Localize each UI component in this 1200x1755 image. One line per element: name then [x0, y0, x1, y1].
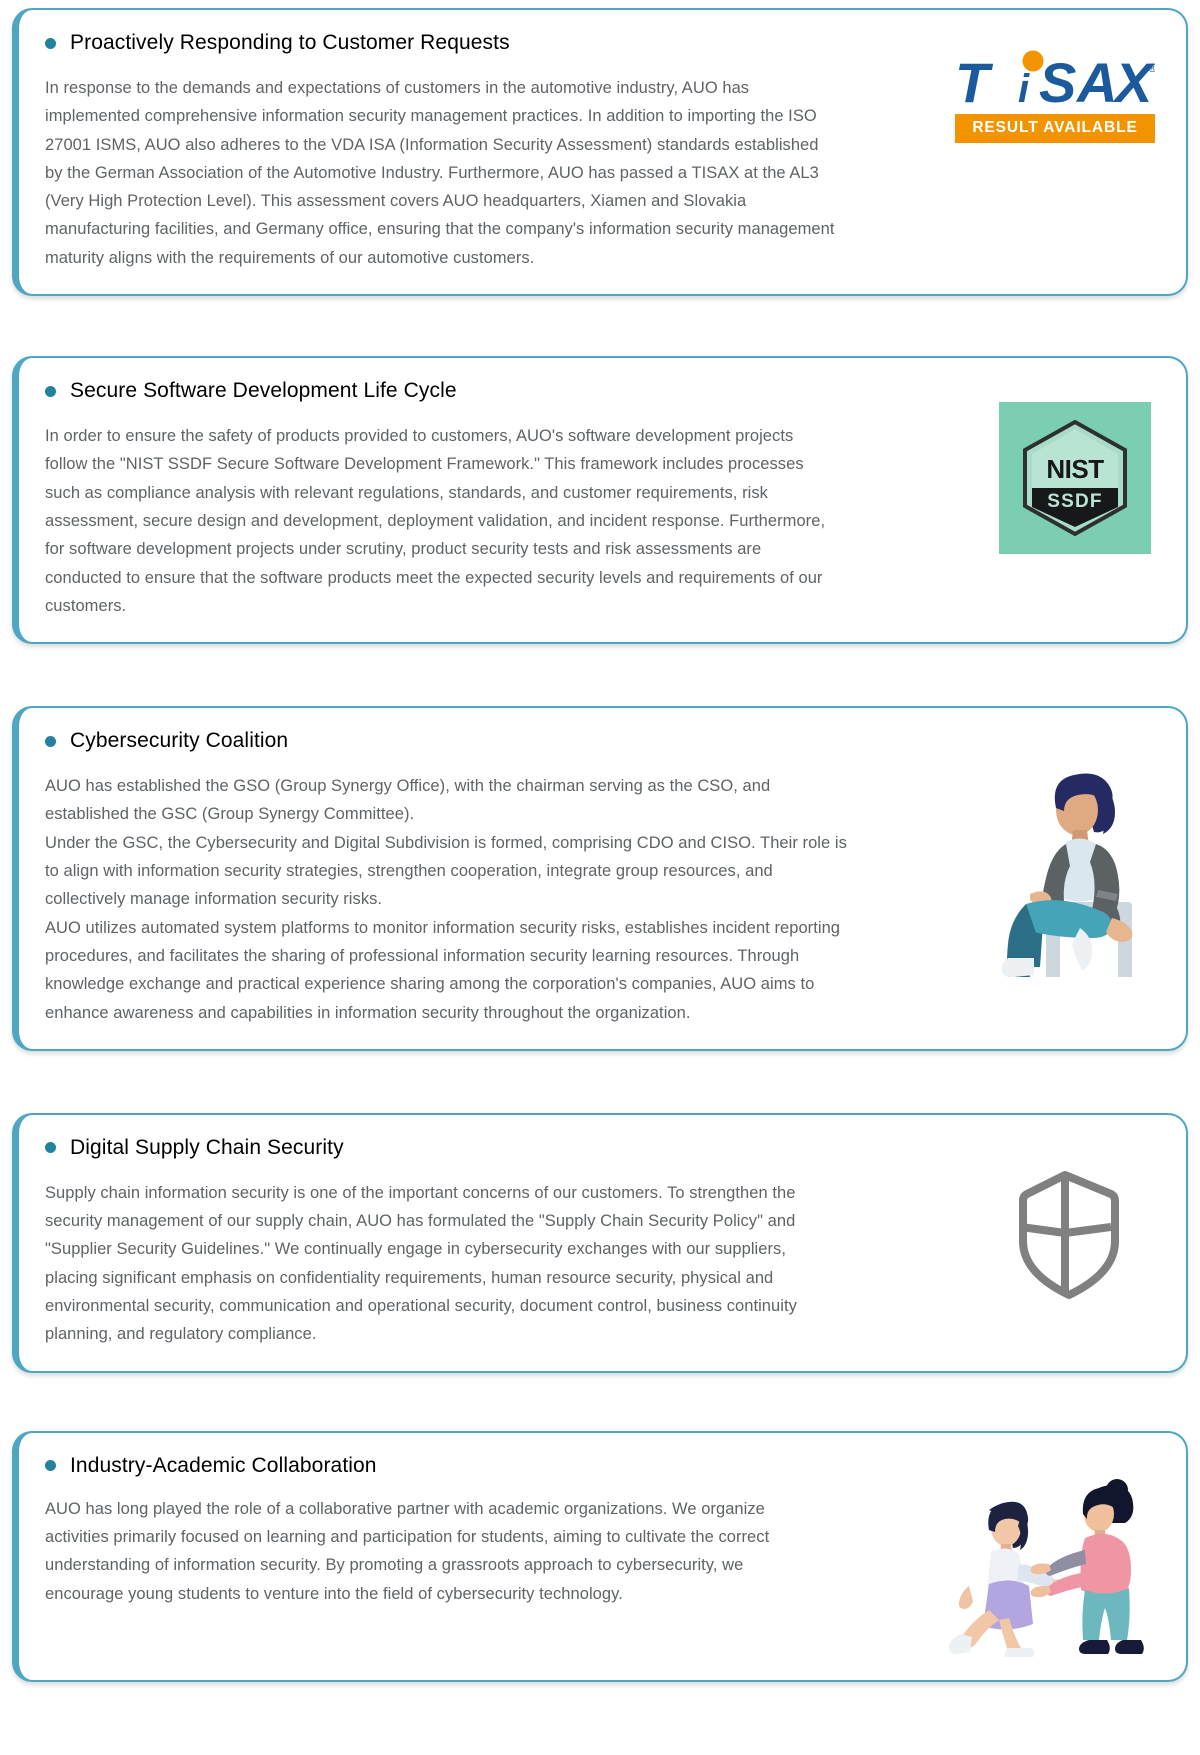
- section-heading: Cybersecurity Coalition: [70, 726, 288, 756]
- tisax-banner: RESULT AVAILABLE: [955, 114, 1155, 143]
- section-body: In response to the demands and expectati…: [45, 74, 835, 272]
- card-visual-nist: NIST SSDF: [990, 402, 1160, 554]
- spacer: [12, 296, 1188, 356]
- section-heading: Proactively Responding to Customer Reque…: [70, 28, 510, 58]
- bullet-dot-icon: [45, 38, 56, 49]
- tisax-wordmark-icon: T i S A X ®: [955, 50, 1155, 112]
- svg-text:®: ®: [1148, 61, 1155, 75]
- svg-text:NIST: NIST: [1046, 454, 1104, 484]
- card-industry-academic-collaboration: Industry-Academic Collaboration AUO has …: [12, 1431, 1188, 1682]
- card-visual-coalition: [965, 762, 1160, 977]
- card-text-block: Secure Software Development Life Cycle I…: [45, 376, 990, 620]
- heading-row: Industry-Academic Collaboration: [45, 1451, 920, 1481]
- heading-row: Secure Software Development Life Cycle: [45, 376, 980, 406]
- heading-row: Proactively Responding to Customer Reque…: [45, 28, 940, 58]
- bullet-dot-icon: [45, 1460, 56, 1471]
- bullet-dot-icon: [45, 1142, 56, 1153]
- seated-person-illustration-icon: [970, 762, 1155, 977]
- section-heading: Secure Software Development Life Cycle: [70, 376, 457, 406]
- two-people-illustration-icon: [933, 1468, 1158, 1658]
- card-visual-tisax: T i S A X ® RESULT AVAILABLE: [950, 50, 1160, 143]
- svg-text:i: i: [1018, 67, 1030, 111]
- card-digital-supply-chain-security: Digital Supply Chain Security Supply cha…: [12, 1113, 1188, 1373]
- card-text-block: Proactively Responding to Customer Reque…: [45, 28, 950, 272]
- svg-text:S: S: [1039, 51, 1076, 112]
- section-body: Supply chain information security is one…: [45, 1179, 835, 1349]
- svg-text:A: A: [1075, 51, 1116, 112]
- section-heading: Digital Supply Chain Security: [70, 1133, 344, 1163]
- card-text-block: Industry-Academic Collaboration AUO has …: [45, 1451, 930, 1608]
- card-cybersecurity-coalition: Cybersecurity Coalition AUO has establis…: [12, 706, 1188, 1051]
- section-heading: Industry-Academic Collaboration: [70, 1451, 377, 1481]
- spacer: [12, 1051, 1188, 1113]
- card-secure-sdlc: Secure Software Development Life Cycle I…: [12, 356, 1188, 644]
- card-proactively-responding: Proactively Responding to Customer Reque…: [12, 8, 1188, 296]
- bullet-dot-icon: [45, 736, 56, 747]
- svg-text:SSDF: SSDF: [1047, 491, 1102, 512]
- heading-row: Digital Supply Chain Security: [45, 1133, 960, 1163]
- section-body: AUO has long played the role of a collab…: [45, 1495, 805, 1608]
- heading-row: Cybersecurity Coalition: [45, 726, 955, 756]
- spacer: [12, 644, 1188, 706]
- card-text-block: Cybersecurity Coalition AUO has establis…: [45, 726, 965, 1027]
- card-visual-shield: [970, 1167, 1160, 1303]
- card-visual-collaboration: [930, 1473, 1160, 1658]
- svg-text:T: T: [955, 51, 994, 112]
- shield-icon: [1005, 1167, 1125, 1303]
- section-body: AUO has established the GSO (Group Syner…: [45, 772, 855, 1027]
- nist-ssdf-badge-icon: NIST SSDF: [999, 402, 1151, 554]
- card-text-block: Digital Supply Chain Security Supply cha…: [45, 1133, 970, 1349]
- spacer: [12, 1373, 1188, 1431]
- tisax-logo: T i S A X ® RESULT AVAILABLE: [955, 50, 1155, 143]
- section-body: In order to ensure the safety of product…: [45, 422, 830, 620]
- bullet-dot-icon: [45, 386, 56, 397]
- information-security-sections-page: Proactively Responding to Customer Reque…: [0, 0, 1200, 1692]
